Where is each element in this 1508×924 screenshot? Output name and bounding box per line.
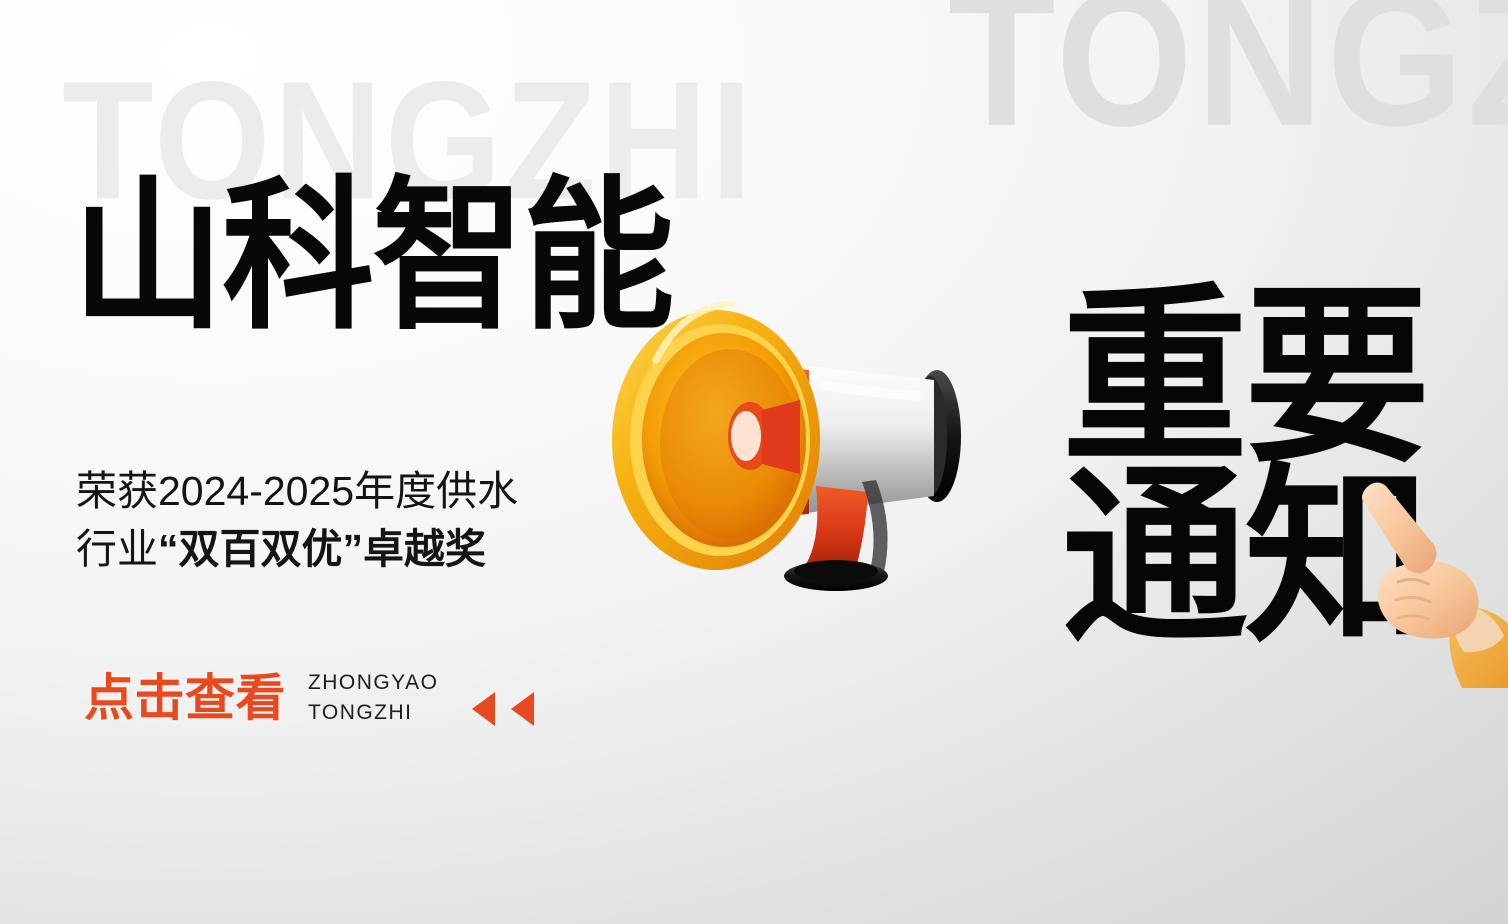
cta-pinyin: ZHONGYAO TONGZHI bbox=[308, 668, 438, 729]
promo-banner: TONGZHI TONGZHI 山科智能 荣获2024-2025年度供水 行业“… bbox=[0, 0, 1508, 924]
cta-pinyin-line-1: ZHONGYAO bbox=[308, 668, 438, 698]
cta-arrows bbox=[472, 670, 534, 726]
watermark-tongzhi-corner: TONGZHI bbox=[948, 0, 1508, 156]
click-to-view-button[interactable]: 点击查看 bbox=[84, 673, 286, 723]
cta-pinyin-line-2: TONGZHI bbox=[308, 698, 438, 728]
left-triangle-icon bbox=[472, 692, 495, 726]
subtitle: 荣获2024-2025年度供水 行业“双百双优”卓越奖 bbox=[76, 462, 518, 578]
subtitle-line-1: 荣获2024-2025年度供水 bbox=[76, 462, 518, 520]
pointing-hand-illustration bbox=[1338, 478, 1508, 688]
cta-row[interactable]: 点击查看 ZHONGYAO TONGZHI bbox=[84, 668, 534, 729]
left-triangle-icon bbox=[511, 692, 534, 726]
subtitle-line-2-prefix: 行业 bbox=[76, 526, 158, 572]
notice-line-1: 重要 bbox=[1062, 286, 1427, 472]
page-title: 山科智能 bbox=[72, 175, 673, 339]
subtitle-line-2-suffix: 卓越奖 bbox=[363, 526, 486, 572]
subtitle-line-2: 行业“双百双优”卓越奖 bbox=[76, 520, 518, 578]
subtitle-award-name: “双百双优” bbox=[158, 526, 363, 572]
